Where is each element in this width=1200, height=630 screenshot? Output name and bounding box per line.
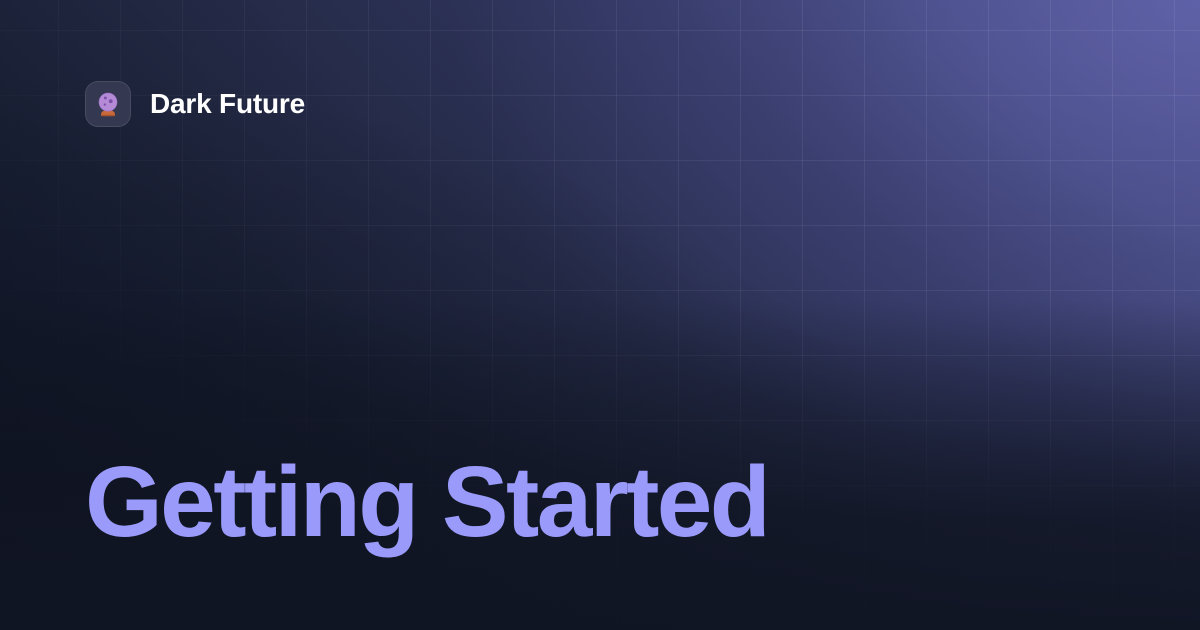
crystal-ball-icon bbox=[93, 89, 123, 119]
hero-title-block: Getting Started bbox=[85, 452, 1120, 552]
page-title: Getting Started bbox=[85, 452, 1120, 552]
brand-lockup: Dark Future bbox=[85, 81, 1120, 127]
card-content: Dark Future Getting Started bbox=[0, 0, 1200, 630]
brand-name: Dark Future bbox=[150, 90, 305, 118]
brand-logo-badge bbox=[85, 81, 131, 127]
og-card: Dark Future Getting Started bbox=[0, 0, 1200, 630]
